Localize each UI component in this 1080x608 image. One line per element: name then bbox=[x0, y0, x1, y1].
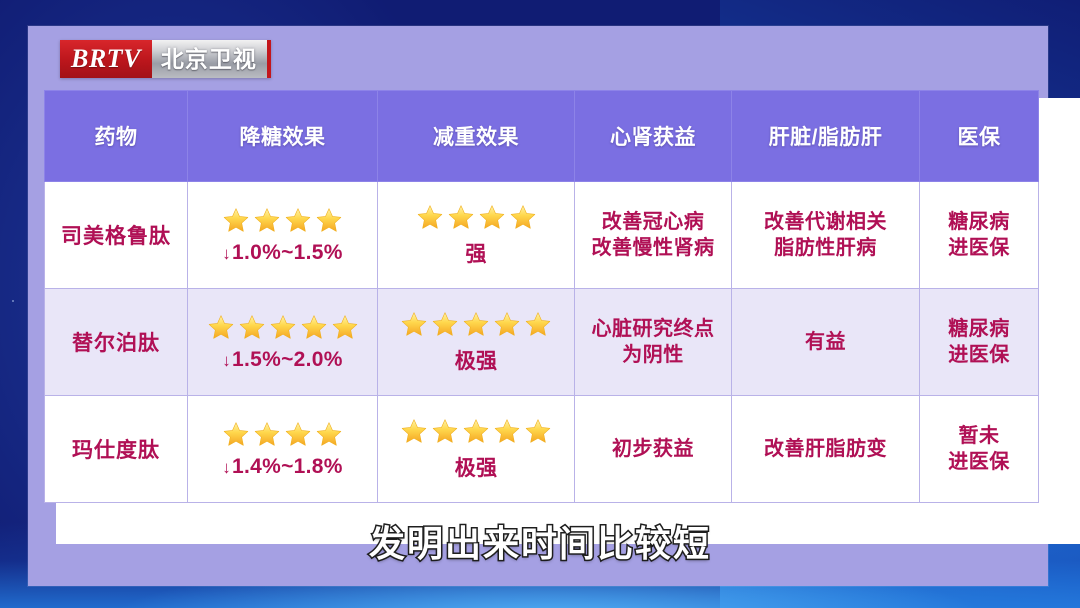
arrow-down-icon: ↓ bbox=[222, 244, 231, 264]
channel-logo: BRTV 北京卫视 bbox=[60, 40, 271, 78]
star-icon bbox=[415, 203, 445, 232]
liver-label: 有益 bbox=[805, 331, 846, 353]
column-header-cardiorenal: 心肾获益 bbox=[575, 91, 732, 182]
star-icon bbox=[206, 313, 236, 342]
channel-logo-brtv: BRTV bbox=[60, 40, 152, 78]
weight-label: 强 bbox=[465, 238, 486, 268]
column-header-insurance: 医保 bbox=[920, 91, 1039, 182]
column-header-glucose: 降糖效果 bbox=[188, 91, 378, 182]
cell-insurance: 糖尿病 进医保 bbox=[920, 182, 1039, 289]
cell-drug-name: 玛仕度肽 bbox=[45, 396, 188, 503]
background-speck bbox=[12, 300, 14, 302]
star-icon bbox=[477, 203, 507, 232]
star-icon bbox=[330, 313, 360, 342]
glucose-value: ↓ 1.0%~1.5% bbox=[222, 241, 343, 265]
liver-label: 改善肝脂肪变 bbox=[764, 438, 887, 460]
cell-weight: 极强 bbox=[378, 289, 575, 396]
star-rating bbox=[399, 310, 553, 340]
star-icon bbox=[492, 417, 522, 446]
star-icon bbox=[221, 206, 251, 235]
arrow-down-icon: ↓ bbox=[222, 351, 231, 371]
cell-liver: 改善代谢相关 脂肪性肝病 bbox=[732, 182, 920, 289]
star-rating bbox=[415, 203, 538, 233]
cardiorenal-label: 心脏研究终点 为阴性 bbox=[592, 318, 715, 366]
liver-label: 改善代谢相关 脂肪性肝病 bbox=[764, 211, 887, 259]
drug-name-label: 替尔泊肽 bbox=[72, 332, 160, 355]
star-rating bbox=[221, 420, 344, 450]
cell-drug-name: 司美格鲁肽 bbox=[45, 182, 188, 289]
star-icon bbox=[314, 206, 344, 235]
drug-name-label: 司美格鲁肽 bbox=[61, 225, 171, 248]
arrow-down-icon: ↓ bbox=[222, 458, 231, 478]
cell-liver: 改善肝脂肪变 bbox=[732, 396, 920, 503]
star-icon bbox=[221, 420, 251, 449]
star-icon bbox=[508, 203, 538, 232]
glucose-value: ↓ 1.5%~2.0% bbox=[222, 348, 343, 372]
star-icon bbox=[237, 313, 267, 342]
star-icon bbox=[283, 420, 313, 449]
cell-glucose: ↓ 1.5%~2.0% bbox=[188, 289, 378, 396]
comparison-table: 药物 降糖效果 减重效果 心肾获益 肝脏/脂肪肝 医保 司美格鲁肽 bbox=[44, 90, 1039, 503]
insurance-label: 糖尿病 进医保 bbox=[948, 318, 1010, 366]
star-icon bbox=[461, 310, 491, 339]
star-rating bbox=[206, 313, 360, 343]
cell-weight: 强 bbox=[378, 182, 575, 289]
column-header-liver: 肝脏/脂肪肝 bbox=[732, 91, 920, 182]
channel-logo-chinese: 北京卫视 bbox=[152, 40, 267, 78]
star-icon bbox=[399, 310, 429, 339]
table-row: 替尔泊肽 ↓ 1.5%~2.0% bbox=[45, 289, 1039, 396]
star-icon bbox=[399, 417, 429, 446]
drug-name-label: 玛仕度肽 bbox=[72, 439, 160, 462]
cell-glucose: ↓ 1.0%~1.5% bbox=[188, 182, 378, 289]
column-header-weight: 减重效果 bbox=[378, 91, 575, 182]
star-rating bbox=[221, 206, 344, 236]
star-icon bbox=[492, 310, 522, 339]
weight-label: 极强 bbox=[455, 345, 498, 375]
screen: BRTV 北京卫视 药物 降糖效果 减重效果 心肾获益 肝脏/脂肪肝 bbox=[0, 0, 1080, 608]
cell-glucose: ↓ 1.4%~1.8% bbox=[188, 396, 378, 503]
star-icon bbox=[268, 313, 298, 342]
table-header-row: 药物 降糖效果 减重效果 心肾获益 肝脏/脂肪肝 医保 bbox=[45, 91, 1039, 182]
table-header: 药物 降糖效果 减重效果 心肾获益 肝脏/脂肪肝 医保 bbox=[45, 91, 1039, 182]
cardiorenal-label: 改善冠心病 改善慢性肾病 bbox=[592, 211, 715, 259]
star-icon bbox=[252, 206, 282, 235]
cardiorenal-label: 初步获益 bbox=[612, 438, 694, 460]
comparison-table-wrapper: 药物 降糖效果 减重效果 心肾获益 肝脏/脂肪肝 医保 司美格鲁肽 bbox=[44, 90, 1038, 502]
star-icon bbox=[523, 310, 553, 339]
column-header-drug: 药物 bbox=[45, 91, 188, 182]
star-icon bbox=[252, 420, 282, 449]
star-icon bbox=[523, 417, 553, 446]
star-icon bbox=[446, 203, 476, 232]
cell-insurance: 糖尿病 进医保 bbox=[920, 289, 1039, 396]
table-row: 司美格鲁肽 ↓ 1.0%~1.5% bbox=[45, 182, 1039, 289]
glucose-range-label: 1.0%~1.5% bbox=[232, 241, 343, 265]
cell-insurance: 暂未 进医保 bbox=[920, 396, 1039, 503]
star-icon bbox=[314, 420, 344, 449]
glucose-range-label: 1.5%~2.0% bbox=[232, 348, 343, 372]
cell-cardiorenal: 心脏研究终点 为阴性 bbox=[575, 289, 732, 396]
table-row: 玛仕度肽 ↓ 1.4%~1.8% bbox=[45, 396, 1039, 503]
cell-cardiorenal: 初步获益 bbox=[575, 396, 732, 503]
channel-logo-bar bbox=[267, 40, 271, 78]
cell-weight: 极强 bbox=[378, 396, 575, 503]
insurance-label: 暂未 进医保 bbox=[948, 425, 1010, 473]
glucose-range-label: 1.4%~1.8% bbox=[232, 455, 343, 479]
cell-drug-name: 替尔泊肽 bbox=[45, 289, 188, 396]
star-icon bbox=[430, 310, 460, 339]
cell-liver: 有益 bbox=[732, 289, 920, 396]
star-rating bbox=[399, 417, 553, 447]
star-icon bbox=[299, 313, 329, 342]
star-icon bbox=[283, 206, 313, 235]
subtitle-caption: 发明出来时间比较短 bbox=[0, 515, 1080, 567]
cell-cardiorenal: 改善冠心病 改善慢性肾病 bbox=[575, 182, 732, 289]
weight-label: 极强 bbox=[455, 452, 498, 482]
glucose-value: ↓ 1.4%~1.8% bbox=[222, 455, 343, 479]
table-body: 司美格鲁肽 ↓ 1.0%~1.5% bbox=[45, 182, 1039, 503]
insurance-label: 糖尿病 进医保 bbox=[948, 211, 1010, 259]
star-icon bbox=[461, 417, 491, 446]
star-icon bbox=[430, 417, 460, 446]
